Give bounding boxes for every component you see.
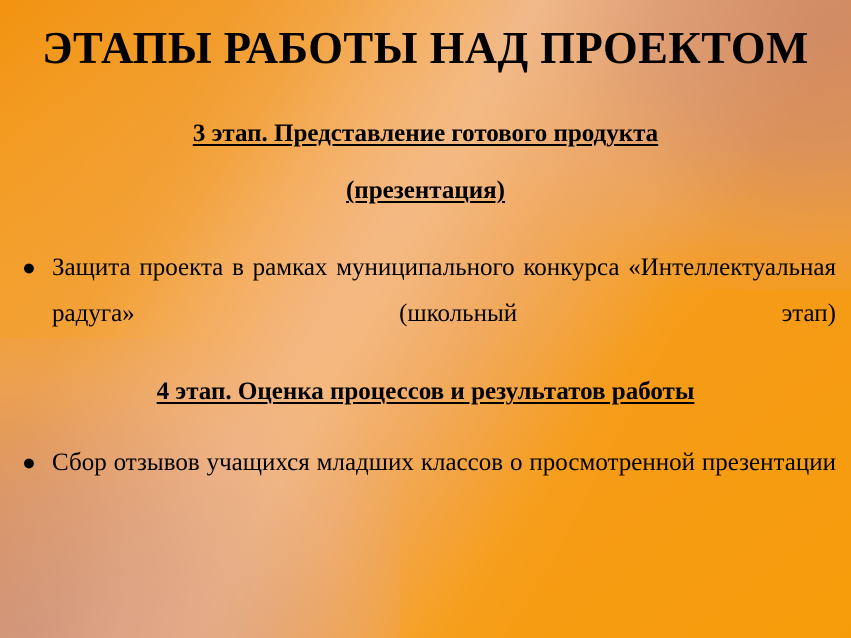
stage-3-heading: 3 этап. Представление готового продукта … <box>0 118 851 207</box>
stage-3-heading-line-1: 3 этап. Представление готового продукта <box>193 120 658 147</box>
bullet-item-2-text: Сбор отзывов учащихся младших классов о … <box>52 440 836 532</box>
presentation-slide: ЭТАПЫ РАБОТЫ НАД ПРОЕКТОМ 3 этап. Предст… <box>0 0 851 638</box>
stage-4-heading-line-1: 4 этап. Оценка процессов и результатов р… <box>157 378 695 405</box>
bullet-marker-icon: ● <box>18 440 52 486</box>
bullet-item-1-text: Защита проекта в рамках муниципального к… <box>52 245 836 383</box>
stage-3-heading-line-2: (презентация) <box>346 177 505 204</box>
stage-4-heading: 4 этап. Оценка процессов и результатов р… <box>0 376 851 407</box>
bullet-item-1: ● Защита проекта в рамках муниципального… <box>18 245 836 383</box>
bullet-marker-icon: ● <box>18 245 52 291</box>
slide-title: ЭТАПЫ РАБОТЫ НАД ПРОЕКТОМ <box>13 24 838 72</box>
bullet-item-2: ● Сбор отзывов учащихся младших классов … <box>18 440 836 532</box>
slide-content: ЭТАПЫ РАБОТЫ НАД ПРОЕКТОМ 3 этап. Предст… <box>0 0 851 638</box>
